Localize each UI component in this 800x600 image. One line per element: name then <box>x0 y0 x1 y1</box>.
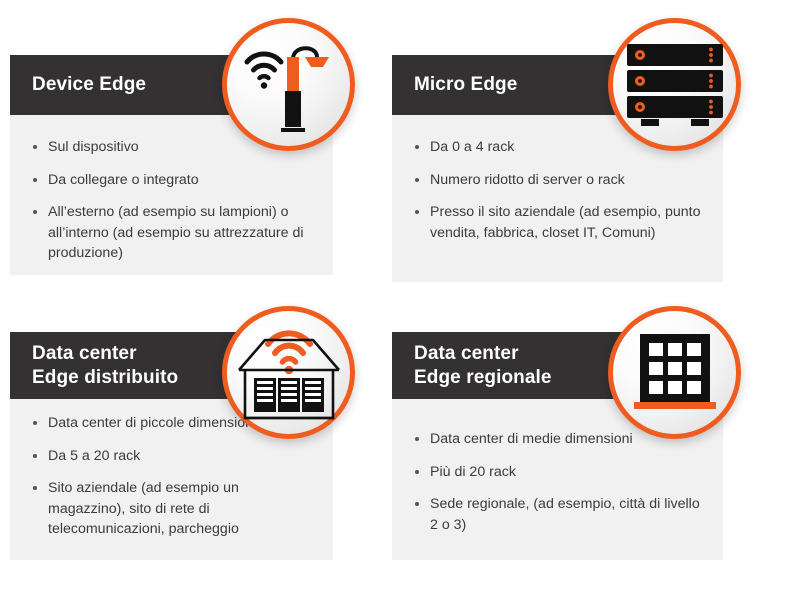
bullet-list-micro-edge: Da 0 a 4 rack Numero ridotto di server o… <box>410 137 703 243</box>
edge-tiers-diagram: Device Edge Sul dispositivo Da collegare… <box>0 0 800 600</box>
list-item: Più di 20 rack <box>410 462 703 483</box>
server-rack-icon <box>625 42 725 128</box>
badge-distributed-edge <box>222 306 355 439</box>
bullet-list-regional-edge: Data center di medie dimensioni Più di 2… <box>410 429 703 535</box>
badge-micro-edge <box>608 18 741 151</box>
streetlight-wifi-icon <box>241 35 337 135</box>
list-item: Da collegare o integrato <box>28 170 313 191</box>
list-item: Presso il sito aziendale (ad esempio, pu… <box>410 202 703 243</box>
list-item: Sito aziendale (ad esempio un magazzino)… <box>28 478 313 540</box>
badge-device-edge <box>222 18 355 151</box>
warehouse-wifi-servers-icon <box>235 322 343 424</box>
card-title-distributed-edge: Data center Edge distribuito <box>10 342 178 388</box>
card-title-regional-edge: Data center Edge regionale <box>392 342 552 388</box>
card-title-device-edge: Device Edge <box>10 73 146 96</box>
card-title-micro-edge: Micro Edge <box>392 73 517 96</box>
bullet-list-device-edge: Sul dispositivo Da collegare o integrato… <box>28 137 313 264</box>
list-item: All’esterno (ad esempio su lampioni) o a… <box>28 202 313 264</box>
office-building-icon <box>632 330 718 416</box>
list-item: Numero ridotto di server o rack <box>410 170 703 191</box>
list-item: Da 5 a 20 rack <box>28 446 313 467</box>
list-item: Sede regionale, (ad esempio, città di li… <box>410 494 703 535</box>
badge-regional-edge <box>608 306 741 439</box>
